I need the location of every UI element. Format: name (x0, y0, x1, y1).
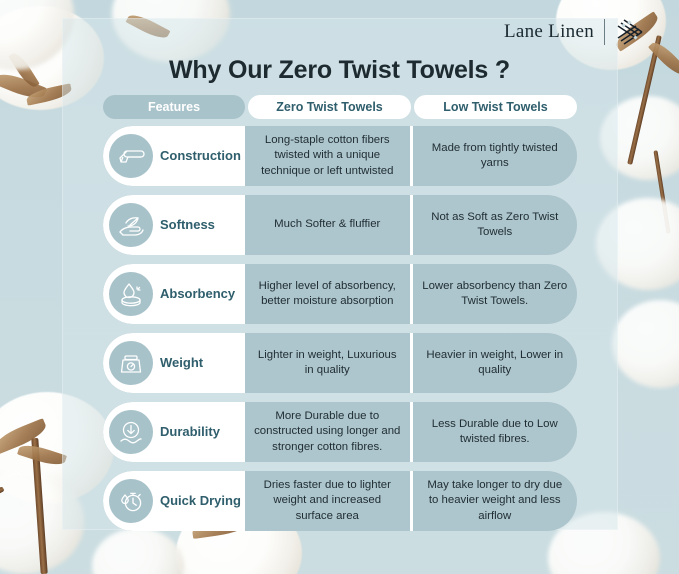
feature-cell: Softness (103, 195, 245, 255)
folded-towel-icon (109, 134, 153, 178)
feature-label: Absorbency (160, 287, 235, 302)
header-features: Features (103, 95, 245, 119)
feature-cell: Weight (103, 333, 245, 393)
header-zero-twist: Zero Twist Towels (248, 95, 411, 119)
feature-cell: Durability (103, 402, 245, 462)
brand-name: Lane Linen (504, 21, 594, 43)
page-title: Why Our Zero Twist Towels ? (0, 56, 679, 85)
low-twist-cell: Not as Soft as Zero Twist Towels (413, 195, 578, 255)
brand-logo: Lane Linen (504, 17, 645, 47)
weighing-scale-icon (109, 341, 153, 385)
comparison-table: Features Zero Twist Towels Low Twist Tow… (103, 95, 577, 540)
table-row: Quick Drying Dries faster due to lighter… (103, 471, 577, 531)
feature-cell: Quick Drying (103, 471, 245, 531)
hand-with-feather-icon (109, 203, 153, 247)
logo-divider (604, 19, 605, 45)
header-low-twist: Low Twist Towels (414, 95, 577, 119)
feature-label: Weight (160, 356, 203, 371)
woven-lattice-diamond-icon (615, 17, 645, 47)
stopwatch-droplet-icon (109, 479, 153, 523)
feature-label: Durability (160, 425, 220, 440)
zero-twist-cell: Long-staple cotton fibers twisted with a… (245, 126, 410, 186)
water-droplet-absorption-icon (109, 272, 153, 316)
table-row: Softness Much Softer & fluffier Not as S… (103, 195, 577, 255)
low-twist-cell: Lower absorbency than Zero Twist Towels. (413, 264, 578, 324)
feature-cell: Construction (103, 126, 245, 186)
zero-twist-cell: Higher level of absorbency, better moist… (245, 264, 410, 324)
feature-label: Softness (160, 218, 215, 233)
table-row: Weight Lighter in weight, Luxurious in q… (103, 333, 577, 393)
zero-twist-cell: Much Softer & fluffier (245, 195, 410, 255)
downward-arrow-circle-icon (109, 410, 153, 454)
table-row: Construction Long-staple cotton fibers t… (103, 126, 577, 186)
low-twist-cell: Made from tightly twisted yarns (413, 126, 578, 186)
feature-cell: Absorbency (103, 264, 245, 324)
table-row: Durability More Durable due to construct… (103, 402, 577, 462)
low-twist-cell: May take longer to dry due to heavier we… (413, 471, 578, 531)
low-twist-cell: Heavier in weight, Lower in quality (413, 333, 578, 393)
feature-label: Construction (160, 149, 241, 164)
feature-label: Quick Drying (160, 494, 241, 509)
table-row: Absorbency Higher level of absorbency, b… (103, 264, 577, 324)
zero-twist-cell: Dries faster due to lighter weight and i… (245, 471, 410, 531)
zero-twist-cell: Lighter in weight, Luxurious in quality (245, 333, 410, 393)
zero-twist-cell: More Durable due to constructed using lo… (245, 402, 410, 462)
infographic-canvas: Lane Linen Why Our Zero Twi (0, 0, 679, 574)
low-twist-cell: Less Durable due to Low twisted fibres. (413, 402, 578, 462)
table-header-row: Features Zero Twist Towels Low Twist Tow… (103, 95, 577, 119)
